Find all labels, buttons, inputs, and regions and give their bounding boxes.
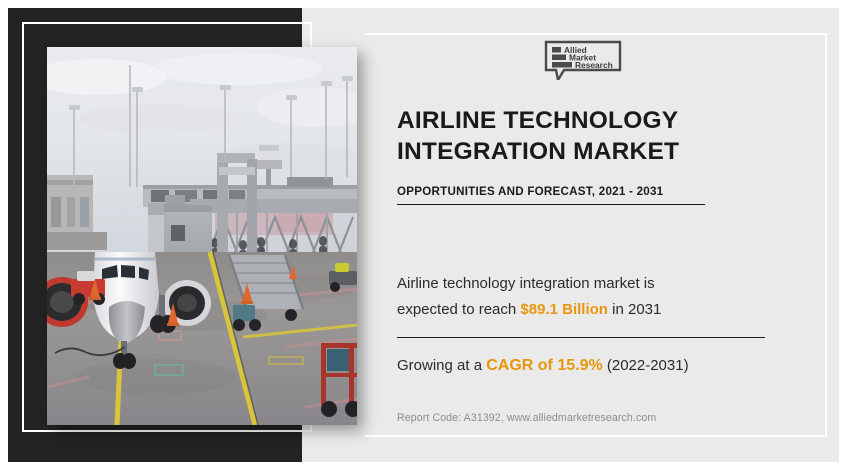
allied-market-research-logo: Allied Market Research xyxy=(544,40,622,80)
svg-text:Research: Research xyxy=(575,60,613,70)
subtitle-underline xyxy=(397,204,705,206)
market-value-mid: expected to reach xyxy=(397,301,520,318)
content-divider xyxy=(397,337,765,339)
page-subtitle: OPPORTUNITIES AND FORECAST, 2021 - 2031 xyxy=(397,185,663,204)
page-title: AIRLINE TECHNOLOGY INTEGRATION MARKET xyxy=(397,106,797,168)
market-value-suffix: in 2031 xyxy=(608,301,661,318)
subtitle-block: OPPORTUNITIES AND FORECAST, 2021 - 2031 xyxy=(397,182,797,206)
page-title-line-2: INTEGRATION MARKET xyxy=(397,137,797,168)
airport-jet-bridge-photo xyxy=(47,47,357,425)
report-code-footer: Report Code: A31392, www.alliedmarketres… xyxy=(397,412,797,424)
market-value-statement: Airline technology integration market is… xyxy=(397,271,797,323)
cagr-figure: CAGR of 15.9% xyxy=(486,357,602,374)
cagr-statement: Growing at a CAGR of 15.9% (2022-2031) xyxy=(397,354,797,378)
market-value-prefix: Airline technology integration market is xyxy=(397,275,655,292)
market-value-figure: $89.1 Billion xyxy=(520,301,608,318)
report-content: Allied Market Research AIRLINE TECHNOLOG… xyxy=(397,40,797,424)
cagr-prefix: Growing at a xyxy=(397,357,486,374)
page-title-line-1: AIRLINE TECHNOLOGY xyxy=(397,106,797,137)
infographic-card: Allied Market Research AIRLINE TECHNOLOG… xyxy=(0,0,847,470)
cagr-period: (2022-2031) xyxy=(603,357,689,374)
brand-logo-wrap: Allied Market Research xyxy=(397,40,769,80)
